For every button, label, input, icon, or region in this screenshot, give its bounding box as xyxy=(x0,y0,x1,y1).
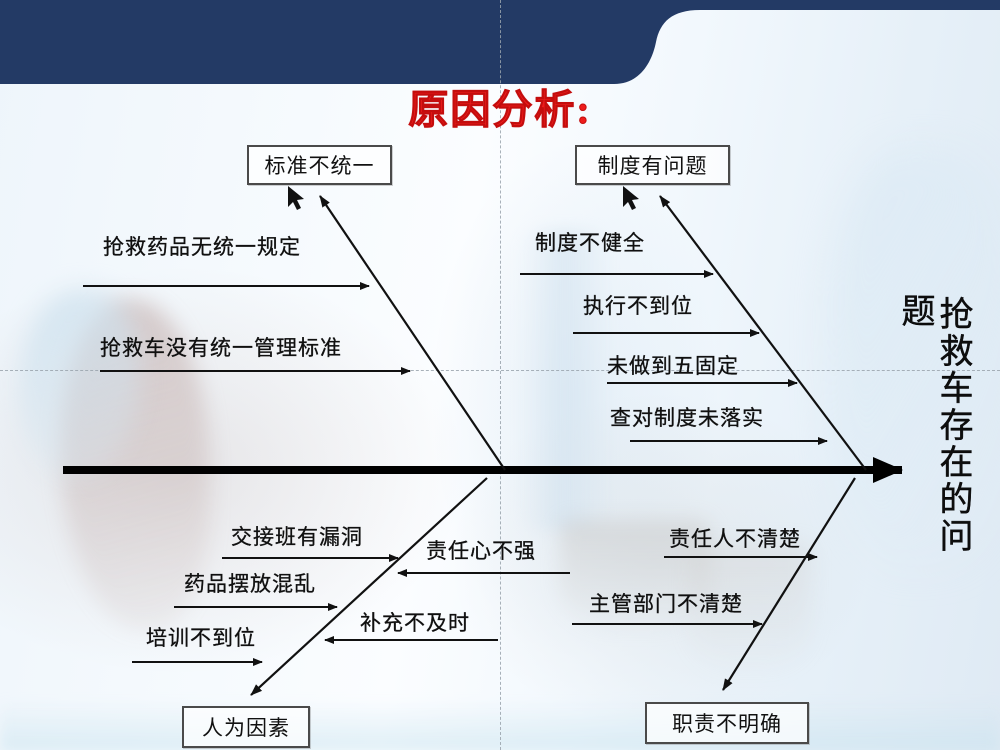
effect-label-wrap: 题 xyxy=(896,293,932,337)
category-box-system[interactable]: 制度有问题 xyxy=(575,145,730,185)
category-box-duty[interactable]: 职责不明确 xyxy=(645,702,809,744)
cause-label-human-5: 补充不及时 xyxy=(360,607,470,637)
cause-label-system-3: 未做到五固定 xyxy=(607,350,739,380)
category-box-standard[interactable]: 标准不统一 xyxy=(247,145,392,185)
cause-label-duty-1: 责任人不清楚 xyxy=(669,523,801,553)
cause-label-system-4: 查对制度未落实 xyxy=(610,402,764,432)
slide-canvas: 原因分析: xyxy=(0,0,1000,750)
effect-label-main: 抢救车存在的问 xyxy=(934,296,970,666)
cause-label-human-2: 药品摆放混乱 xyxy=(184,568,316,598)
category-box-human[interactable]: 人为因素 xyxy=(182,706,310,748)
mouse-cursor-right xyxy=(623,186,639,210)
cause-label-system-1: 制度不健全 xyxy=(535,227,645,257)
bone-standard xyxy=(320,196,505,470)
cause-label-standard-1: 抢救药品无统一规定 xyxy=(103,231,301,261)
cause-label-standard-2: 抢救车没有统一管理标准 xyxy=(100,332,342,362)
cause-label-system-2: 执行不到位 xyxy=(583,290,693,320)
cause-label-human-1: 交接班有漏洞 xyxy=(231,521,363,551)
cause-label-human-3: 培训不到位 xyxy=(146,622,256,652)
mouse-cursor-left xyxy=(288,186,304,210)
cause-label-human-4: 责任心不强 xyxy=(426,535,536,565)
cause-label-duty-2: 主管部门不清楚 xyxy=(589,588,743,618)
bone-duty xyxy=(723,478,855,690)
